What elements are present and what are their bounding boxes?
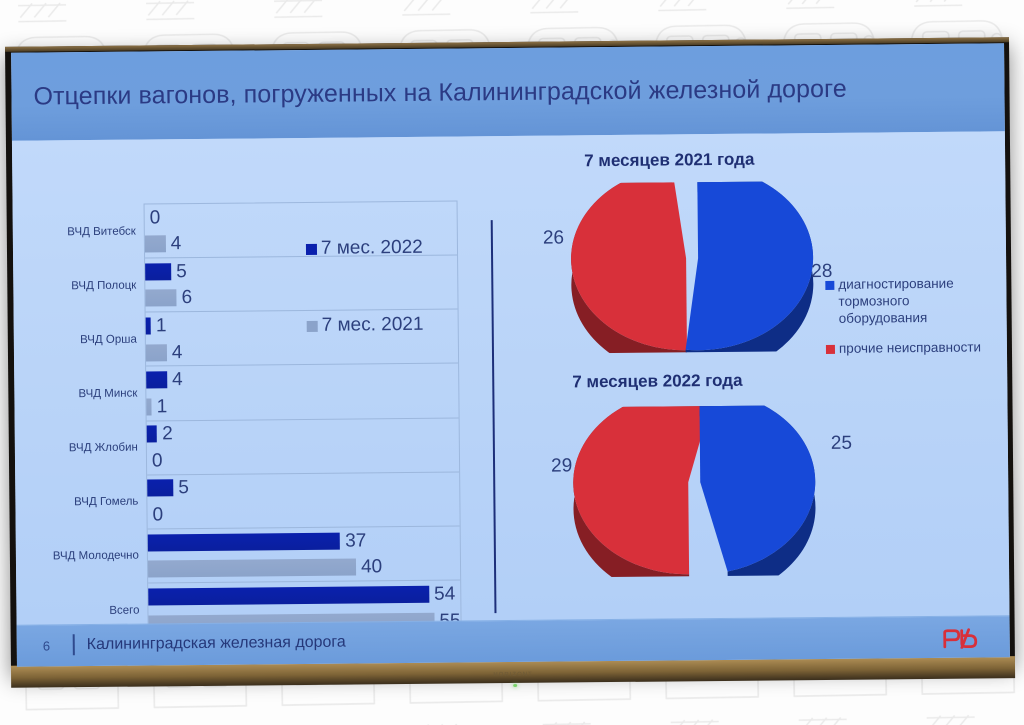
bar-value-label: 5 bbox=[178, 478, 189, 497]
pie-legend-swatch-blue-icon bbox=[825, 281, 834, 290]
bar-row: 37 bbox=[148, 526, 460, 556]
bar-category-label: ВЧД Гомель bbox=[74, 496, 138, 509]
bar-value-label: 37 bbox=[345, 531, 366, 550]
bar-segment bbox=[145, 236, 166, 253]
bar-value-label: 1 bbox=[156, 316, 167, 335]
bar-category-group: ВЧД Полоцк56 bbox=[145, 256, 458, 313]
bar-segment bbox=[148, 559, 356, 578]
bar-row: 5 bbox=[145, 256, 457, 286]
bar-value-label: 5 bbox=[176, 262, 187, 281]
pie-legend-item-diagnostics: диагностирование тормозного оборудования bbox=[825, 275, 995, 327]
pie-title-2022: 7 месяцев 2022 года bbox=[572, 371, 742, 393]
bar-category-label: ВЧД Орша bbox=[80, 333, 137, 346]
bar-segment bbox=[146, 371, 167, 388]
bar-category-label: ВЧД Молодечно bbox=[53, 550, 139, 563]
bar-row: 5 bbox=[147, 472, 459, 502]
bar-row: 0 bbox=[147, 445, 459, 475]
monitor-power-led bbox=[513, 684, 517, 687]
bar-segment bbox=[147, 426, 158, 443]
footer-railway-name: Калининградская железная дорога bbox=[87, 634, 346, 654]
pie-legend-label-diagnostics: диагностирование тормозного оборудования bbox=[838, 275, 995, 327]
bar-category-label: ВЧД Жлобин bbox=[69, 442, 138, 455]
room-background: HORIZONT Отцепки вагонов, погруженных на… bbox=[0, 0, 1024, 725]
footer-page-number: 6 bbox=[43, 638, 50, 653]
monitor-brand-label: HORIZONT bbox=[493, 672, 532, 678]
bar-segment bbox=[148, 586, 429, 606]
bar-value-label: 0 bbox=[152, 505, 163, 524]
bar-value-label: 40 bbox=[361, 557, 382, 576]
bar-value-label: 6 bbox=[182, 289, 193, 308]
bar-category-label: ВЧД Минск bbox=[78, 388, 137, 401]
pie-2022-value-blue: 25 bbox=[831, 433, 852, 455]
slide-header: Отцепки вагонов, погруженных на Калининг… bbox=[11, 43, 1005, 141]
bar-category-label: ВЧД Витебск bbox=[67, 225, 136, 238]
bar-row: 0 bbox=[147, 499, 459, 529]
bar-segment bbox=[148, 532, 341, 551]
bar-row: 4 bbox=[146, 364, 458, 394]
pie-title-2021: 7 месяцев 2021 года bbox=[584, 150, 754, 172]
footer-separator bbox=[73, 634, 75, 655]
monitor-frame: HORIZONT Отцепки вагонов, погруженных на… bbox=[5, 37, 1015, 672]
pie-chart-legend: диагностирование тормозного оборудования… bbox=[825, 275, 996, 370]
pie-svg bbox=[566, 181, 818, 353]
slide-body: ВЧД Витебск04ВЧД Полоцк56ВЧД Орша14ВЧД М… bbox=[12, 131, 1010, 625]
bar-category-group: ВЧД Минск41 bbox=[146, 364, 459, 421]
bar-category-group: ВЧД Жлобин20 bbox=[147, 418, 460, 475]
page-title: Отцепки вагонов, погруженных на Калининг… bbox=[33, 75, 847, 112]
bar-category-group: ВЧД Орша14 bbox=[146, 310, 459, 367]
bar-segment bbox=[145, 290, 176, 307]
bar-category-group: ВЧД Молодечно3740 bbox=[148, 526, 461, 583]
pie-chart-panel: 7 месяцев 2021 года 26 28 7 месяцев 2022… bbox=[490, 131, 1010, 620]
bar-category-label: ВЧД Полоцк bbox=[71, 279, 136, 292]
bar-value-label: 2 bbox=[162, 425, 173, 444]
bar-segment bbox=[146, 398, 151, 415]
bar-row: 0 bbox=[145, 202, 457, 232]
bar-value-label: 0 bbox=[152, 451, 163, 470]
bar-segment bbox=[146, 317, 151, 334]
bar-row: 54 bbox=[148, 580, 460, 610]
pie-chart-2021 bbox=[566, 181, 818, 358]
bar-row: 1 bbox=[146, 390, 458, 420]
bar-value-label: 4 bbox=[172, 370, 183, 389]
bar-segment bbox=[146, 344, 167, 361]
bar-category-group: ВЧД Гомель50 bbox=[147, 472, 460, 529]
pie-2021-value-red: 26 bbox=[543, 227, 564, 249]
bar-value-label: 1 bbox=[157, 397, 168, 416]
presentation-slide: Отцепки вагонов, погруженных на Калининг… bbox=[11, 43, 1010, 667]
rzd-logo-icon bbox=[940, 626, 986, 648]
pie-chart-2022 bbox=[569, 405, 821, 582]
pie-svg bbox=[569, 405, 821, 577]
bar-row: 1 bbox=[146, 310, 458, 340]
bar-category-label: Всего bbox=[109, 605, 139, 617]
pie-legend-label-other: прочие неисправности bbox=[839, 339, 981, 357]
bar-row: 4 bbox=[145, 228, 457, 258]
bar-value-label: 54 bbox=[434, 584, 455, 603]
pie-legend-swatch-red-icon bbox=[826, 345, 835, 354]
bar-value-label: 0 bbox=[150, 208, 161, 227]
bar-chart-plot-area: ВЧД Витебск04ВЧД Полоцк56ВЧД Орша14ВЧД М… bbox=[144, 200, 462, 638]
bar-row: 6 bbox=[145, 282, 457, 312]
bar-value-label: 4 bbox=[172, 343, 183, 362]
bar-segment bbox=[145, 263, 171, 280]
bar-category-group: ВЧД Витебск04 bbox=[145, 202, 458, 259]
bar-chart-panel: ВЧД Витебск04ВЧД Полоцк56ВЧД Орша14ВЧД М… bbox=[12, 136, 485, 624]
bar-row: 2 bbox=[147, 418, 459, 448]
bar-value-label: 4 bbox=[171, 234, 182, 253]
pie-2022-value-red: 29 bbox=[551, 455, 572, 477]
pie-legend-item-other: прочие неисправности bbox=[826, 339, 996, 358]
bar-row: 40 bbox=[148, 553, 460, 583]
bar-segment bbox=[147, 480, 173, 497]
bar-row: 4 bbox=[146, 336, 458, 366]
